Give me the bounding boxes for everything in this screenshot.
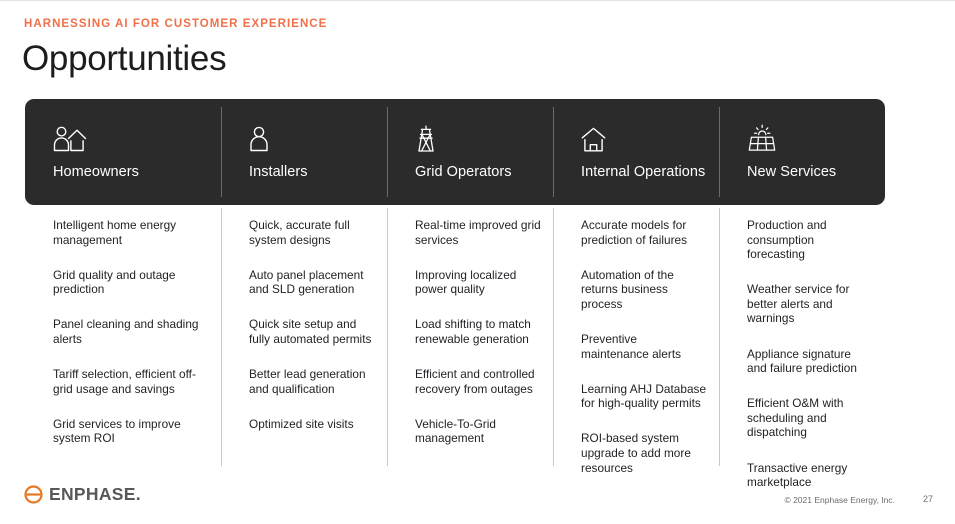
list-item: Better lead generation and qualification [249,367,375,396]
list-item: Appliance signature and failure predicti… [747,347,873,376]
category-label: New Services [747,163,885,181]
category-label: Grid Operators [415,163,553,181]
house-icon [581,118,719,152]
list-item: Efficient O&M with scheduling and dispat… [747,396,873,440]
eyebrow-label: HARNESSING AI FOR CUSTOMER EXPERIENCE [24,17,327,31]
top-divider [0,0,955,1]
column-grid-operators: Real-time improved grid services Improvi… [387,208,553,466]
transmission-tower-icon [415,118,553,152]
category-cell-installers[interactable]: Installers [221,99,387,205]
list-item: Tariff selection, efficient off-grid usa… [53,367,209,396]
enphase-logo-text: ENPHASE. [49,484,141,504]
category-cell-homeowners[interactable]: Homeowners [25,99,221,205]
column-homeowners: Intelligent home energy management Grid … [25,208,221,466]
list-item: Panel cleaning and shading alerts [53,317,209,346]
list-item: Weather service for better alerts and wa… [747,282,873,326]
column-installers: Quick, accurate full system designs Auto… [221,208,387,466]
list-item: Accurate models for prediction of failur… [581,218,707,247]
opportunity-columns: Intelligent home energy management Grid … [25,208,885,466]
page-title: Opportunities [22,36,226,82]
category-cell-new-services[interactable]: New Services [719,99,885,205]
list-item: Production and consumption forecasting [747,218,873,262]
list-item: Vehicle-To-Grid management [415,417,541,446]
list-item: Efficient and controlled recovery from o… [415,367,541,396]
list-item: Optimized site visits [249,417,375,432]
category-bar: Homeowners Installers [25,99,885,205]
list-item: Quick, accurate full system designs [249,218,375,247]
category-cell-internal-operations[interactable]: Internal Operations [553,99,719,205]
list-item: Preventive maintenance alerts [581,332,707,361]
enphase-logo: ENPHASE. [24,484,141,504]
list-item: Learning AHJ Database for high-quality p… [581,382,707,411]
list-item: Automation of the returns business proce… [581,268,707,312]
person-house-icon [53,118,221,152]
category-cell-grid-operators[interactable]: Grid Operators [387,99,553,205]
list-item: Load shifting to match renewable generat… [415,317,541,346]
person-icon [249,118,387,152]
column-new-services: Production and consumption forecasting W… [719,208,885,466]
list-item: Intelligent home energy management [53,218,209,247]
list-item: Transactive energy marketplace [747,461,873,490]
category-label: Internal Operations [581,163,719,181]
copyright-text: © 2021 Enphase Energy, Inc. [784,494,895,506]
solar-panel-icon [747,118,885,152]
page-number: 27 [923,493,933,505]
slide-root: HARNESSING AI FOR CUSTOMER EXPERIENCE Op… [0,0,955,524]
list-item: Quick site setup and fully automated per… [249,317,375,346]
category-label: Homeowners [53,163,221,181]
enphase-logo-icon [24,485,43,504]
list-item: Grid quality and outage prediction [53,268,209,297]
list-item: Auto panel placement and SLD generation [249,268,375,297]
column-internal-operations: Accurate models for prediction of failur… [553,208,719,466]
list-item: Grid services to improve system ROI [53,417,209,446]
list-item: ROI-based system upgrade to add more res… [581,431,707,475]
list-item: Improving localized power quality [415,268,541,297]
category-label: Installers [249,163,387,181]
list-item: Real-time improved grid services [415,218,541,247]
